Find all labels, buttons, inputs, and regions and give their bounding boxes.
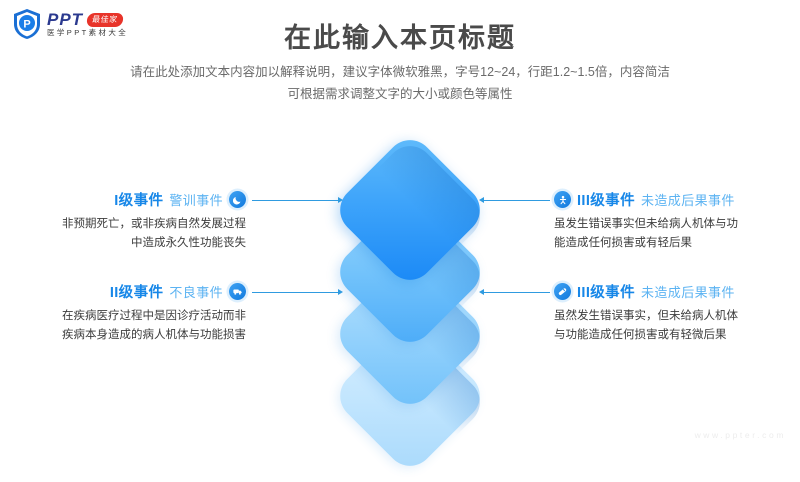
callout-level-4[interactable]: III级事件 未造成后果事件 虽然发生错误事实，但未给病人机体 与功能造成任何损…: [554, 281, 794, 344]
callout-4-heading: III级事件 未造成后果事件: [554, 281, 794, 302]
subtitle-line-1: 请在此处添加文本内容加以解释说明，建议字体微软雅黑，字号12~24，行距1.2~…: [0, 62, 800, 84]
callout-2-level: II级事件: [110, 281, 164, 302]
capsule-icon[interactable]: [554, 283, 571, 300]
callout-3-level: III级事件: [577, 189, 635, 210]
page-title: 在此输入本页标题: [0, 16, 800, 55]
connector-line-2: [252, 292, 340, 293]
callout-1-description: 非预期死亡，或非疾病自然发展过程 中造成永久性功能丧失: [20, 215, 246, 252]
ambulance-icon[interactable]: [229, 283, 246, 300]
page-subtitle: 请在此处添加文本内容加以解释说明，建议字体微软雅黑，字号12~24，行距1.2~…: [0, 62, 800, 106]
connector-arrow-2: [338, 289, 343, 295]
callout-3-kind: 未造成后果事件: [641, 190, 735, 209]
callout-3-heading: III级事件 未造成后果事件: [554, 189, 794, 210]
callout-3-description: 虽发生错误事实但未给病人机体与功 能造成任何损害或有轻后果: [554, 215, 794, 252]
connector-arrow-1: [338, 197, 343, 203]
moon-icon[interactable]: [229, 191, 246, 208]
callout-2-kind: 不良事件: [169, 282, 223, 301]
callout-1-level: I级事件: [114, 189, 163, 210]
callout-2-description: 在疾病医疗过程中是因诊疗活动而非 疾病本身造成的病人机体与功能损害: [20, 307, 246, 344]
subtitle-line-2: 可根据需求调整文字的大小或颜色等属性: [0, 84, 800, 106]
callout-1-kind: 警训事件: [169, 190, 223, 209]
callout-level-1[interactable]: I级事件 警训事件 非预期死亡，或非疾病自然发展过程 中造成永久性功能丧失: [20, 189, 246, 252]
connector-line-1: [252, 200, 340, 201]
callout-2-desc-line-2: 疾病本身造成的病人机体与功能损害: [20, 326, 246, 345]
callout-3-desc-line-2: 能造成任何损害或有轻后果: [554, 234, 794, 253]
callout-1-desc-line-1: 非预期死亡，或非疾病自然发展过程: [20, 215, 246, 234]
connector-line-4: [484, 292, 550, 293]
connector-line-3: [484, 200, 550, 201]
layer-stack-diagram: [330, 152, 490, 392]
callout-4-kind: 未造成后果事件: [641, 282, 735, 301]
callout-1-heading: I级事件 警训事件: [20, 189, 246, 210]
callout-4-desc-line-2: 与功能造成任何损害或有轻微后果: [554, 326, 794, 345]
callout-4-level: III级事件: [577, 281, 635, 302]
connector-arrow-3: [479, 197, 484, 203]
callout-level-2[interactable]: II级事件 不良事件 在疾病医疗过程中是因诊疗活动而非 疾病本身造成的病人机体与…: [20, 281, 246, 344]
callout-4-desc-line-1: 虽然发生错误事实，但未给病人机体: [554, 307, 794, 326]
callout-3-desc-line-1: 虽发生错误事实但未给病人机体与功: [554, 215, 794, 234]
callout-2-heading: II级事件 不良事件: [20, 281, 246, 302]
callout-1-desc-line-2: 中造成永久性功能丧失: [20, 234, 246, 253]
watermark: www.ppter.com: [695, 430, 786, 440]
person-icon[interactable]: [554, 191, 571, 208]
callout-2-desc-line-1: 在疾病医疗过程中是因诊疗活动而非: [20, 307, 246, 326]
connector-arrow-4: [479, 289, 484, 295]
callout-level-3[interactable]: III级事件 未造成后果事件 虽发生错误事实但未给病人机体与功 能造成任何损害或…: [554, 189, 794, 252]
callout-4-description: 虽然发生错误事实，但未给病人机体 与功能造成任何损害或有轻微后果: [554, 307, 794, 344]
